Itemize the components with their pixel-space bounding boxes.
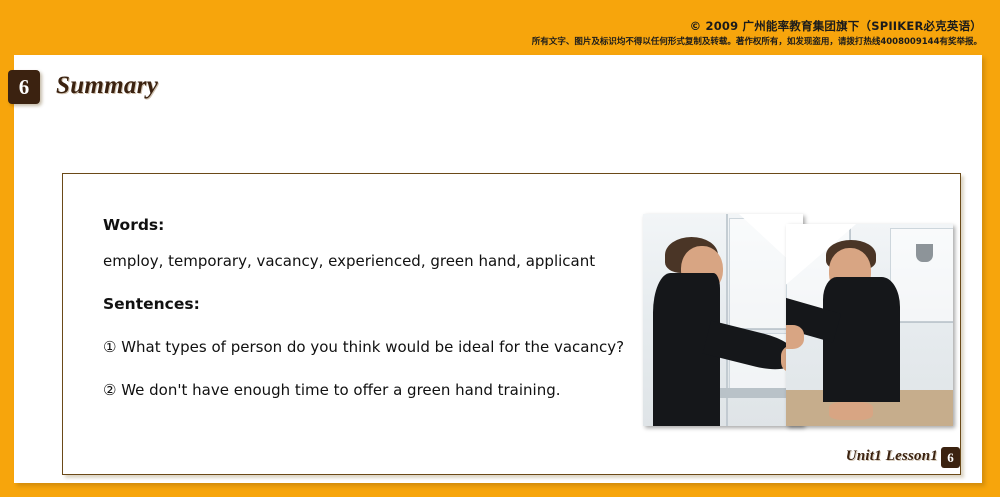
footer-slide-number-badge: 6 xyxy=(941,447,960,468)
slide-panel: Words: employ, temporary, vacancy, exper… xyxy=(14,55,982,483)
resting-hands-right-figure xyxy=(829,402,872,420)
content-box: Words: employ, temporary, vacancy, exper… xyxy=(62,173,961,475)
header-slide-number-badge: 6 xyxy=(8,70,40,104)
handshake-photo-composite xyxy=(643,206,955,428)
handshake-photo-right xyxy=(786,224,953,426)
words-label: Words: xyxy=(103,216,164,234)
copyright-primary-text: © 2009 广州能率教育集团旗下（SPIIKER必克英语） xyxy=(690,18,982,34)
page-title: Summary xyxy=(56,72,158,100)
suit-right-figure xyxy=(823,277,900,402)
slide-canvas: © 2009 广州能率教育集团旗下（SPIIKER必克英语） 所有文字、图片及标… xyxy=(0,0,1000,497)
sentence-item-1: ① What types of person do you think woul… xyxy=(103,338,624,356)
copyright-band: © 2009 广州能率教育集团旗下（SPIIKER必克英语） 所有文字、图片及标… xyxy=(0,0,1000,52)
handshake-photo-left xyxy=(643,214,803,426)
words-list: employ, temporary, vacancy, experienced,… xyxy=(103,252,595,270)
copyright-secondary-text: 所有文字、图片及标识均不得以任何形式复制及转载。著作权所有，如发现盗用，请拨打热… xyxy=(532,35,982,47)
footer-lesson-label: Unit1 Lesson1 xyxy=(846,448,938,465)
sentence-item-2: ② We don't have enough time to offer a g… xyxy=(103,381,561,399)
sentences-label: Sentences: xyxy=(103,295,200,313)
pendant-lamp-right xyxy=(916,244,933,262)
